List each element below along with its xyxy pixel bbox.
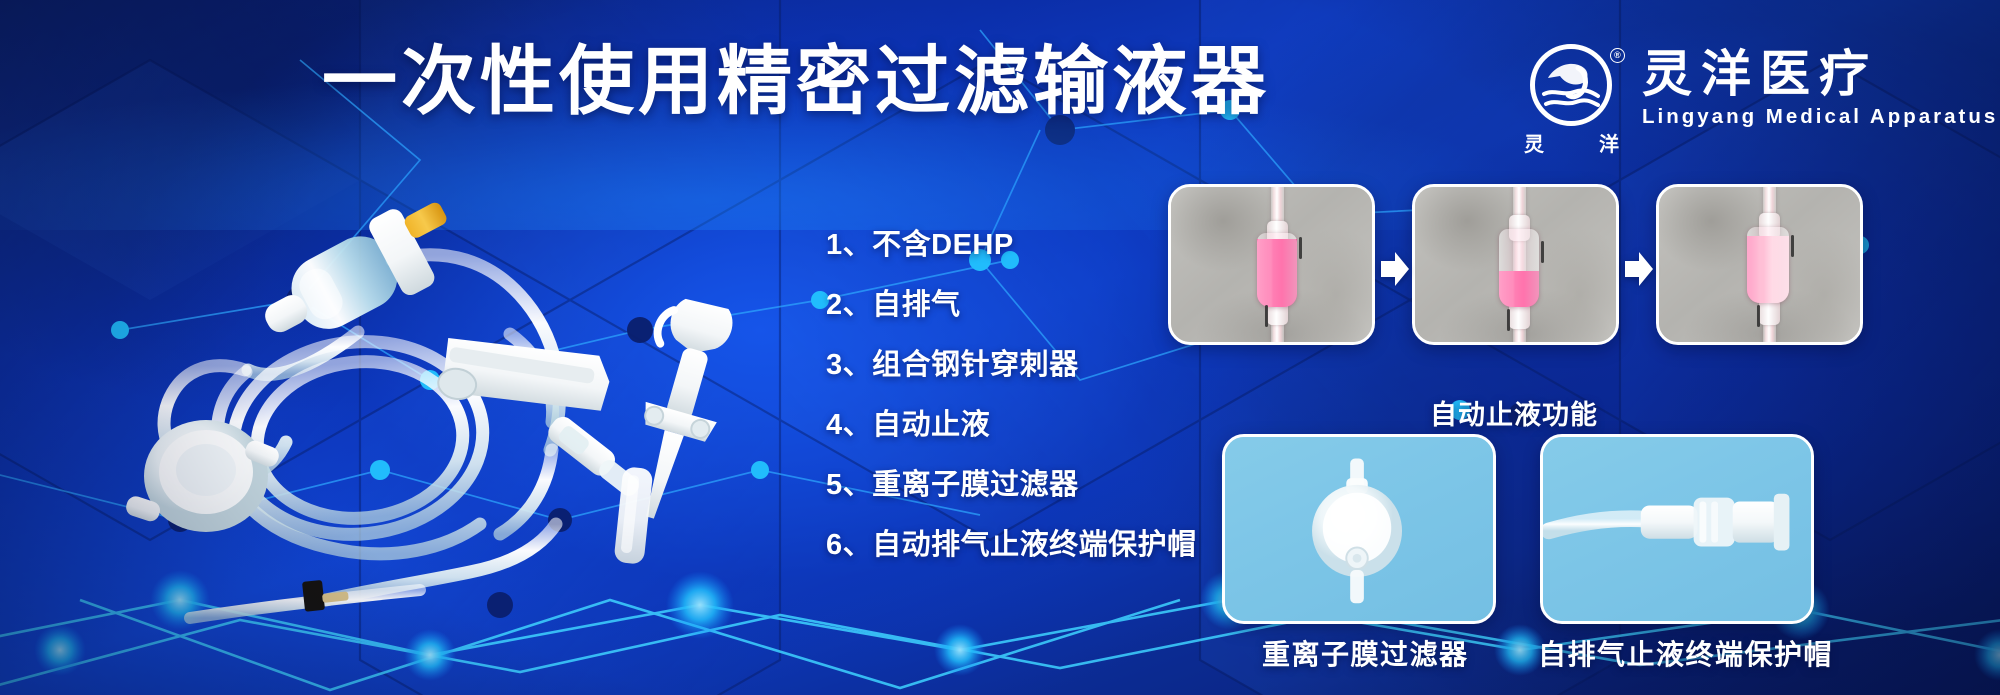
registered-mark: ® — [1610, 48, 1625, 63]
caption-auto-stop-function: 自动止液功能 — [1430, 393, 1598, 432]
brand-logo: ® 灵 洋 灵洋医疗 Lingyang Medical Apparatus — [1524, 44, 1998, 156]
feature-item-6: 6、自动排气止液终端保护帽 — [826, 515, 1197, 575]
wave-dolphin-icon — [1530, 44, 1612, 126]
brand-name-en: Lingyang Medical Apparatus — [1642, 105, 1998, 129]
emblem-subtitle: 灵 洋 — [1524, 128, 1620, 157]
sequence-photo-step-2 — [1412, 184, 1619, 345]
feature-item-5: 5、重离子膜过滤器 — [826, 455, 1197, 515]
logo-emblem: ® 灵 洋 — [1524, 44, 1620, 156]
feature-item-1: 1、不含DEHP — [826, 215, 1197, 275]
emblem-sub-left: 灵 — [1524, 128, 1545, 157]
emblem-sub-right: 洋 — [1599, 128, 1620, 157]
arrow-right-icon — [1381, 252, 1409, 286]
brand-name-cn: 灵洋医疗 — [1642, 48, 1998, 101]
feature-list: 1、不含DEHP 2、自排气 3、组合钢针穿刺器 4、自动止液 5、重离子膜过滤… — [826, 215, 1197, 575]
terminal-cap-illustration — [1543, 437, 1811, 623]
page-title: 一次性使用精密过滤输液器 — [322, 44, 1270, 119]
filter-illustration — [1225, 437, 1493, 623]
sequence-photo-step-1 — [1168, 184, 1375, 345]
sequence-photo-step-3 — [1656, 184, 1863, 345]
product-banner: 一次性使用精密过滤输液器 ® 灵 洋 灵洋医疗 Lingyang Medical… — [0, 0, 2000, 695]
caption-heavy-ion-membrane-filter: 重离子膜过滤器 — [1262, 633, 1469, 673]
logo-text-block: 灵洋医疗 Lingyang Medical Apparatus — [1642, 44, 1998, 129]
feature-item-3: 3、组合钢针穿刺器 — [826, 335, 1197, 395]
caption-auto-vent-terminal-cap: 自排气止液终端保护帽 — [1538, 633, 1833, 673]
feature-item-4: 4、自动止液 — [826, 395, 1197, 455]
photo-auto-vent-terminal-cap — [1540, 434, 1814, 624]
arrow-right-icon — [1625, 252, 1653, 286]
photo-heavy-ion-membrane-filter — [1222, 434, 1496, 624]
hero-product-image — [40, 120, 800, 640]
feature-item-2: 2、自排气 — [826, 275, 1197, 335]
